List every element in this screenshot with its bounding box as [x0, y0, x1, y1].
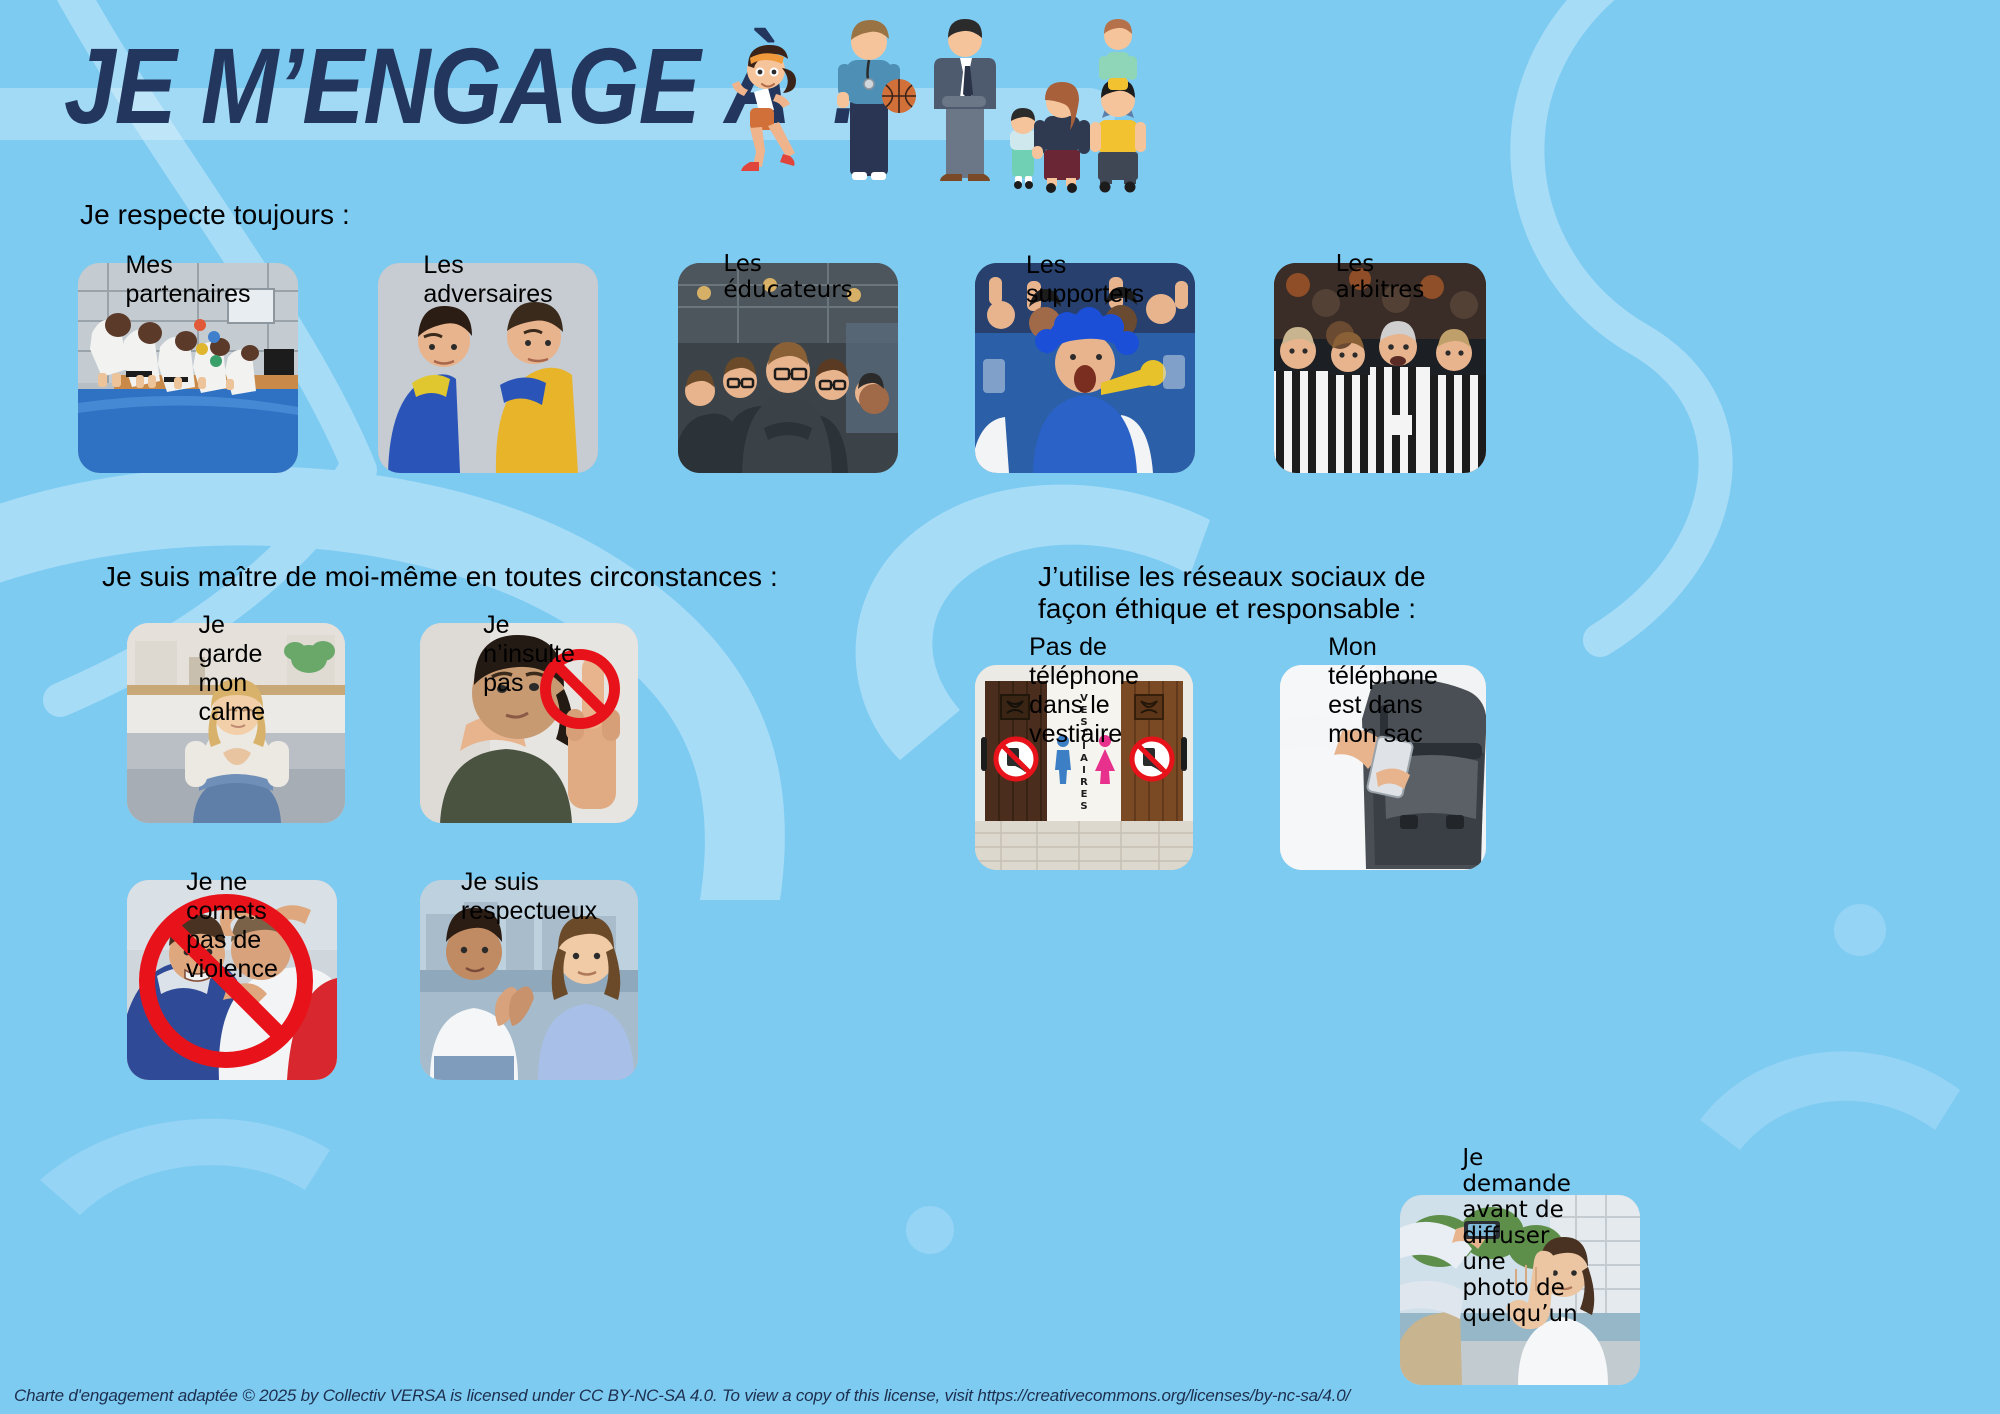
card-label-je-ne-comets-pas-de-violence: Je ne comets pas de violence: [169, 860, 295, 994]
header-figure-group: [710, 0, 1180, 200]
card-label-les-adversaires: Les adversaires: [406, 243, 569, 319]
runner-girl-figure: [732, 45, 796, 171]
card-je-ne-comets-pas-de-violence[interactable]: Je ne comets pas de violence: [127, 880, 337, 1080]
svg-text:R: R: [1080, 777, 1088, 788]
card-je-suis-respectueux[interactable]: Je suis respectueux: [420, 880, 638, 1080]
card-label-pas-de-telephone-vestiaire: Pas de téléphone dans le vestiaire: [1012, 625, 1156, 759]
section-heading-self-control: Je suis maître de moi-même en toutes cir…: [82, 552, 798, 604]
coach-with-basketball-figure: [837, 20, 916, 180]
card-les-supporters[interactable]: Les supporters: [975, 263, 1195, 473]
card-label-mes-partenaires: Mes partenaires: [108, 243, 267, 319]
card-je-ninsulte-pas[interactable]: Je n’insulte pas: [420, 623, 638, 823]
card-label-je-suis-respectueux: Je suis respectueux: [444, 860, 614, 936]
card-label-les-arbitres: Les arbitres: [1319, 243, 1442, 313]
license-footer: Charte d'engagement adaptée © 2025 by Co…: [14, 1386, 1350, 1406]
svg-text:S: S: [1080, 801, 1087, 812]
card-label-je-ninsulte-pas: Je n’insulte pas: [466, 603, 592, 708]
card-mon-telephone-dans-mon-sac[interactable]: Mon téléphone est dans mon sac: [1280, 665, 1486, 870]
section-heading-social-media: J’utilise les réseaux sociaux de façon é…: [1018, 552, 1446, 636]
poster-header: JE M’ENGAGE À:: [0, 0, 2000, 200]
svg-text:E: E: [1081, 789, 1088, 800]
card-les-arbitres[interactable]: Les arbitres: [1274, 263, 1486, 473]
card-je-demande-avant-de-diffuser[interactable]: Je demande avant de diffuser une photo d…: [1400, 1195, 1640, 1385]
card-label-mon-telephone-dans-mon-sac: Mon téléphone est dans mon sac: [1311, 625, 1455, 759]
family-group-figure: [1010, 19, 1146, 193]
card-les-adversaires[interactable]: Les adversaires: [378, 263, 598, 473]
card-mes-partenaires[interactable]: Mes partenaires: [78, 263, 298, 473]
card-label-les-supporters: Les supporters: [1009, 243, 1161, 319]
official-in-suit-figure: [934, 19, 996, 181]
section-heading-respect: Je respecte toujours :: [60, 190, 370, 242]
card-les-educateurs[interactable]: Les éducateurs: [678, 263, 898, 473]
card-label-je-demande-avant-de-diffuser: Je demande avant de diffuser une photo d…: [1445, 1137, 1594, 1337]
card-label-les-educateurs: Les éducateurs: [706, 243, 869, 313]
card-label-je-garde-mon-calme: Je garde mon calme: [182, 603, 291, 737]
card-je-garde-mon-calme[interactable]: Je garde mon calme: [127, 623, 345, 823]
page-title-text: JE M’ENGAGE À: [64, 25, 791, 146]
card-pas-de-telephone-vestiaire[interactable]: Pas de téléphone dans le vestiaire: [975, 665, 1193, 870]
svg-text:I: I: [1082, 765, 1086, 776]
